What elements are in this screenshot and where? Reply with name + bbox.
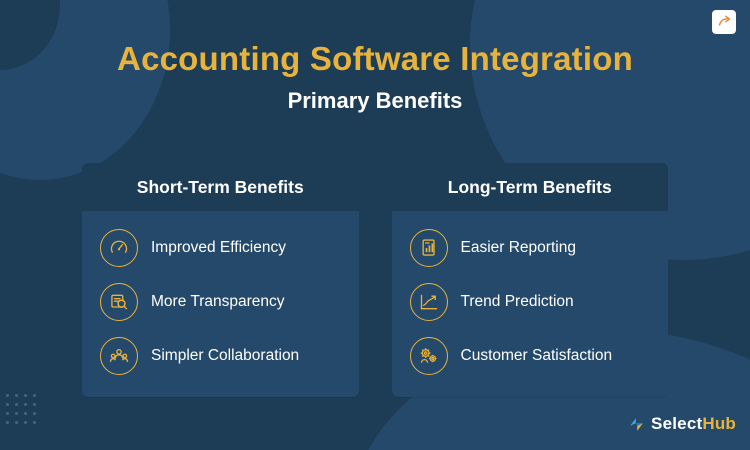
page-subtitle: Primary Benefits	[0, 88, 750, 114]
list-item[interactable]: Easier Reporting	[392, 221, 669, 275]
magnifier-document-icon	[100, 283, 138, 321]
list-item[interactable]: Improved Efficiency	[82, 221, 359, 275]
list-item-label: Trend Prediction	[461, 293, 574, 311]
card-heading: Short-Term Benefits	[82, 163, 359, 211]
brand-select: Select	[651, 414, 702, 433]
card-items: Easier Reporting Trend Prediction	[392, 211, 669, 397]
list-item-label: More Transparency	[151, 293, 285, 311]
card-long-term: Long-Term Benefits Easier Reporting	[392, 163, 669, 397]
list-item[interactable]: Trend Prediction	[392, 275, 669, 329]
list-item[interactable]: Customer Satisfaction	[392, 329, 669, 383]
benefit-cards: Short-Term Benefits Improved Efficiency	[82, 163, 668, 397]
share-icon[interactable]	[712, 10, 736, 34]
card-items: Improved Efficiency More Transparency	[82, 211, 359, 397]
list-item-label: Improved Efficiency	[151, 239, 286, 257]
trend-up-arrow-icon	[410, 283, 448, 321]
list-item[interactable]: Simpler Collaboration	[82, 329, 359, 383]
card-short-term: Short-Term Benefits Improved Efficiency	[82, 163, 359, 397]
speedometer-icon	[100, 229, 138, 267]
page-title: Accounting Software Integration	[0, 40, 750, 78]
card-heading: Long-Term Benefits	[392, 163, 669, 211]
list-item-label: Simpler Collaboration	[151, 347, 299, 365]
report-chart-icon	[410, 229, 448, 267]
people-group-icon	[100, 337, 138, 375]
selecthub-logo-icon	[628, 416, 645, 433]
gears-people-icon	[410, 337, 448, 375]
selecthub-wordmark: SelectHub	[651, 414, 736, 434]
selecthub-logo[interactable]: SelectHub	[628, 414, 736, 434]
brand-hub: Hub	[702, 414, 736, 433]
list-item[interactable]: More Transparency	[82, 275, 359, 329]
list-item-label: Customer Satisfaction	[461, 347, 613, 365]
dot-grid-decoration	[6, 394, 40, 428]
slide-canvas: Accounting Software Integration Primary …	[0, 0, 750, 450]
list-item-label: Easier Reporting	[461, 239, 576, 257]
